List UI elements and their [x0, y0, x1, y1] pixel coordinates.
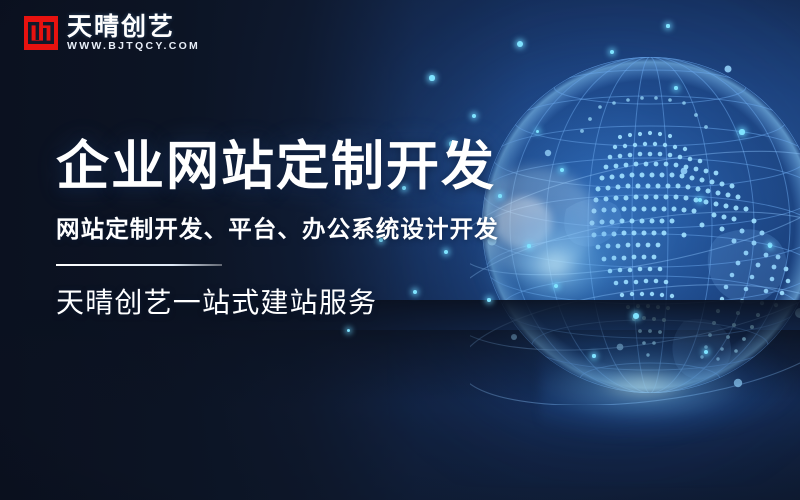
divider-rule: [56, 264, 222, 266]
glow-particle: [592, 354, 595, 357]
glow-particle: [347, 329, 350, 332]
logo-company-name: 天晴创艺: [67, 14, 200, 39]
brand-logo[interactable]: 天晴创艺 WWW.BJTQCY.COM: [24, 14, 200, 52]
glow-particle: [666, 24, 669, 27]
page-title: 企业网站定制开发: [56, 138, 499, 195]
glow-particle: [739, 129, 744, 134]
glow-particle: [517, 41, 523, 47]
glow-particle: [527, 244, 530, 247]
headline-block: 企业网站定制开发 网站定制开发、平台、办公系统设计开发 天晴创艺一站式建站服务: [56, 138, 499, 319]
glow-particle: [560, 168, 564, 172]
glow-particle: [429, 75, 434, 80]
tianqing-logo-icon: [24, 16, 58, 50]
glow-particle: [674, 86, 678, 90]
logo-website-url: WWW.BJTQCY.COM: [67, 41, 200, 52]
glow-particle: [536, 130, 539, 133]
glow-particle: [633, 313, 639, 319]
glow-particle: [704, 350, 708, 354]
subtitle: 网站定制开发、平台、办公系统设计开发: [56, 217, 499, 243]
logo-text-block: 天晴创艺 WWW.BJTQCY.COM: [67, 14, 200, 52]
promo-banner: 天晴创艺 WWW.BJTQCY.COM 企业网站定制开发 网站定制开发、平台、办…: [0, 0, 800, 500]
glow-particle: [698, 198, 702, 202]
tagline: 天晴创艺一站式建站服务: [56, 288, 499, 319]
